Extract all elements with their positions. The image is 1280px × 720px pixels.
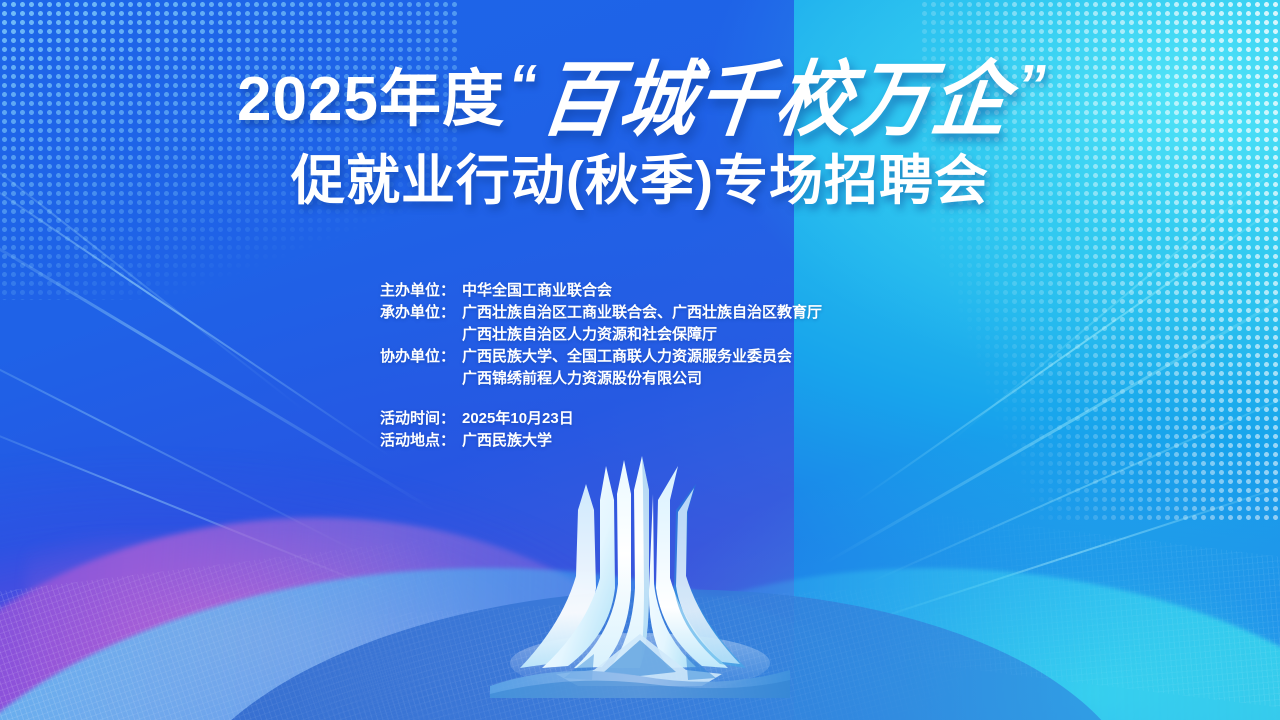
landmark-building-graphic (490, 448, 790, 698)
place-value: 广西民族大学 (462, 430, 900, 452)
info-spacer (380, 390, 900, 408)
info-row-coorganizer: 协办单位： 广西民族大学、全国工商联人力资源服务业委员会 (380, 346, 900, 368)
poster-title-block: 2025年度 “ 百城千校万企 ” 促就业行动(秋季)专场招聘会 (0, 62, 1280, 211)
info-row-place: 活动地点： 广西民族大学 (380, 430, 900, 452)
title-subtitle: 促就业行动(秋季)专场招聘会 (0, 152, 1280, 211)
quote-close-mark: ” (1014, 57, 1047, 115)
landmark-building-icon (490, 448, 790, 698)
place-label: 活动地点： (380, 430, 462, 452)
poster-canvas: 2025年度 “ 百城千校万企 ” 促就业行动(秋季)专场招聘会 主办单位： 中… (0, 0, 1280, 720)
title-year: 2025年度 (237, 69, 505, 131)
info-row-time: 活动时间： 2025年10月23日 (380, 408, 900, 430)
organizer-label: 承办单位： (380, 302, 462, 324)
organizer-value: 广西壮族自治区工商业联合会、广西壮族自治区教育厅 (462, 302, 900, 324)
coorganizer-label: 协办单位： (380, 346, 462, 368)
info-row-organizer: 承办单位： 广西壮族自治区工商业联合会、广西壮族自治区教育厅 (380, 302, 900, 324)
info-row-host: 主办单位： 中华全国工商业联合会 (380, 280, 900, 302)
host-value: 中华全国工商业联合会 (462, 280, 900, 302)
organizer-value-line2: 广西壮族自治区人力资源和社会保障厅 (380, 324, 900, 346)
coorganizer-value-line2: 广西锦绣前程人力资源股份有限公司 (380, 368, 900, 390)
time-label: 活动时间： (380, 408, 462, 430)
coorganizer-value: 广西民族大学、全国工商联人力资源服务业委员会 (462, 346, 900, 368)
title-line-primary: 2025年度 “ 百城千校万企 ” (0, 62, 1280, 138)
time-value: 2025年10月23日 (462, 408, 900, 430)
poster-info-block: 主办单位： 中华全国工商业联合会 承办单位： 广西壮族自治区工商业联合会、广西壮… (380, 280, 900, 452)
title-brush-phrase: 百城千校万企 (533, 59, 1019, 141)
quote-open-mark: “ (505, 57, 538, 115)
host-label: 主办单位： (380, 280, 462, 302)
